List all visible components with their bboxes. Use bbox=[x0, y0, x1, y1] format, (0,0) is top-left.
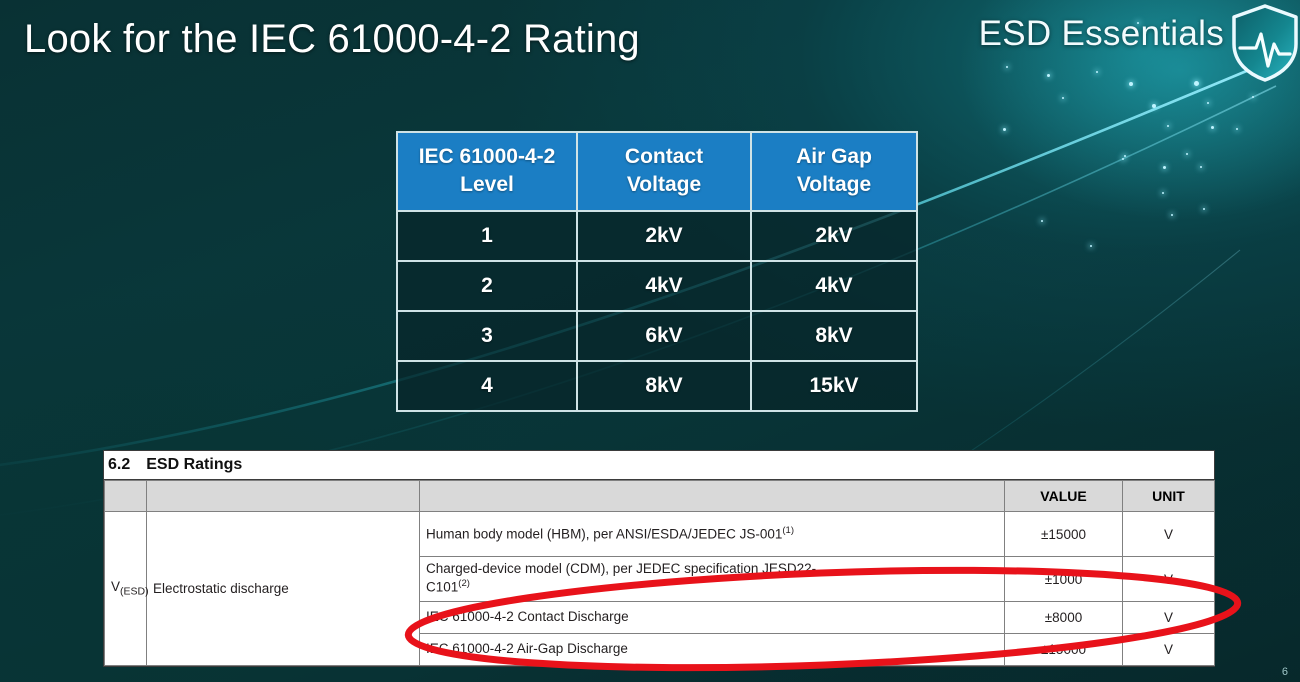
esd-ratings-table: VALUE UNIT V(ESD) Electrostatic discharg… bbox=[104, 480, 1215, 666]
header-blank-parameter bbox=[147, 481, 420, 512]
table-header-row: VALUE UNIT bbox=[105, 481, 1215, 512]
cell-airgap: 4kV bbox=[751, 261, 917, 311]
table-header-row: IEC 61000-4-2 Level Contact Voltage Air … bbox=[397, 132, 917, 211]
column-header-contact-voltage: Contact Voltage bbox=[577, 132, 751, 211]
header-blank-symbol bbox=[105, 481, 147, 512]
footnote-marker: (1) bbox=[782, 525, 794, 536]
brand-lockup: ESD Essentials bbox=[979, 10, 1300, 82]
header-line-2: Voltage bbox=[797, 173, 871, 196]
table-row: 1 2kV 2kV bbox=[397, 211, 917, 261]
cell-condition: Charged-device model (CDM), per JEDEC sp… bbox=[420, 557, 1005, 602]
cell-airgap: 15kV bbox=[751, 361, 917, 411]
column-header-air-gap-voltage: Air Gap Voltage bbox=[751, 132, 917, 211]
condition-text-line2: C101 bbox=[426, 580, 458, 595]
header-line-2: Level bbox=[460, 173, 514, 196]
brand-title: ESD Essentials bbox=[979, 10, 1224, 54]
slide-canvas: Look for the IEC 61000-4-2 Rating ESD Es… bbox=[0, 0, 1300, 682]
iec-level-table: IEC 61000-4-2 Level Contact Voltage Air … bbox=[396, 131, 918, 412]
header-line-1: Contact bbox=[625, 145, 703, 168]
header-blank-condition bbox=[420, 481, 1005, 512]
cell-symbol: V(ESD) bbox=[105, 512, 147, 666]
column-header-level: IEC 61000-4-2 Level bbox=[397, 132, 577, 211]
table-row: 3 6kV 8kV bbox=[397, 311, 917, 361]
cell-airgap: 8kV bbox=[751, 311, 917, 361]
cell-unit: V bbox=[1123, 557, 1215, 602]
cell-value: ±8000 bbox=[1005, 602, 1123, 634]
cell-unit: V bbox=[1123, 512, 1215, 557]
cell-value: ±15000 bbox=[1005, 634, 1123, 666]
cell-condition: IEC 61000-4-2 Air-Gap Discharge bbox=[420, 634, 1005, 666]
header-line-2: Voltage bbox=[627, 173, 701, 196]
header-line-1: IEC 61000-4-2 bbox=[419, 145, 556, 168]
cell-level: 3 bbox=[397, 311, 577, 361]
cell-level: 1 bbox=[397, 211, 577, 261]
condition-text: Charged-device model (CDM), per JEDEC sp… bbox=[426, 561, 816, 576]
cell-contact: 4kV bbox=[577, 261, 751, 311]
column-header-unit: UNIT bbox=[1123, 481, 1215, 512]
cell-airgap: 2kV bbox=[751, 211, 917, 261]
cell-parameter: Electrostatic discharge bbox=[147, 512, 420, 666]
column-header-value: VALUE bbox=[1005, 481, 1123, 512]
cell-condition: IEC 61000-4-2 Contact Discharge bbox=[420, 602, 1005, 634]
shield-pulse-icon bbox=[1230, 4, 1300, 82]
table-row: 2 4kV 4kV bbox=[397, 261, 917, 311]
cell-level: 4 bbox=[397, 361, 577, 411]
cell-value: ±15000 bbox=[1005, 512, 1123, 557]
datasheet-section-heading: 6.2ESD Ratings bbox=[104, 451, 1214, 480]
section-title: ESD Ratings bbox=[146, 456, 242, 473]
cell-level: 2 bbox=[397, 261, 577, 311]
page-title: Look for the IEC 61000-4-2 Rating bbox=[24, 17, 640, 61]
cell-contact: 8kV bbox=[577, 361, 751, 411]
cell-unit: V bbox=[1123, 602, 1215, 634]
cell-value: ±1000 bbox=[1005, 557, 1123, 602]
cell-unit: V bbox=[1123, 634, 1215, 666]
symbol-subscript: (ESD) bbox=[120, 586, 149, 598]
cell-condition: Human body model (HBM), per ANSI/ESDA/JE… bbox=[420, 512, 1005, 557]
cell-contact: 6kV bbox=[577, 311, 751, 361]
condition-text: Human body model (HBM), per ANSI/ESDA/JE… bbox=[426, 526, 782, 541]
table-row: V(ESD) Electrostatic discharge Human bod… bbox=[105, 512, 1215, 557]
header-line-1: Air Gap bbox=[796, 145, 872, 168]
footnote-marker: (2) bbox=[458, 578, 470, 589]
page-number: 6 bbox=[1282, 666, 1288, 678]
datasheet-excerpt: 6.2ESD Ratings VALUE UNIT V(ESD) Electro… bbox=[103, 450, 1215, 667]
symbol-base: V bbox=[111, 579, 120, 594]
cell-contact: 2kV bbox=[577, 211, 751, 261]
section-number: 6.2 bbox=[108, 456, 130, 473]
table-row: 4 8kV 15kV bbox=[397, 361, 917, 411]
